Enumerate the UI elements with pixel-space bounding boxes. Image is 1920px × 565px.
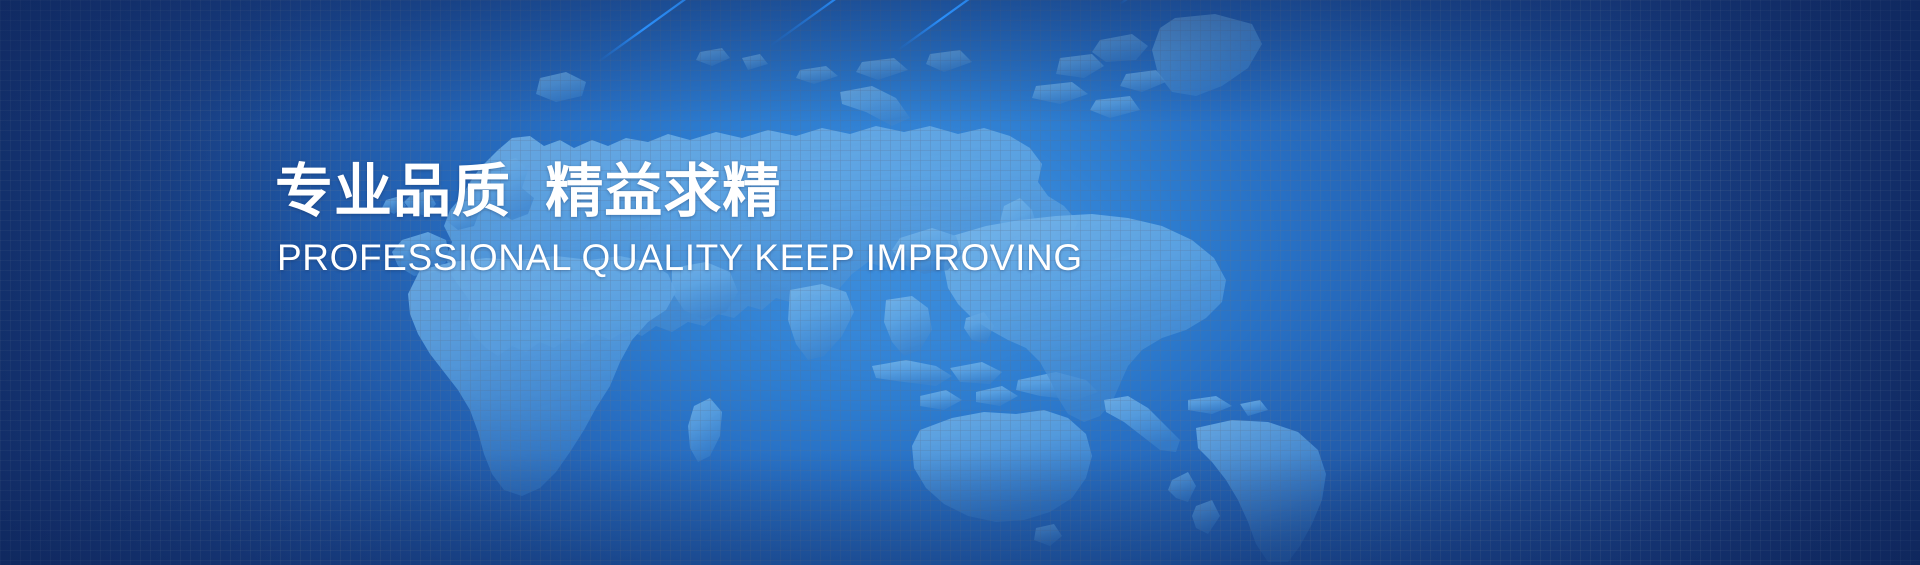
hero-banner: 专业品质 精益求精 PROFESSIONAL QUALITY KEEP IMPR…: [0, 0, 1920, 565]
diagonal-light-streaks: [0, 0, 1920, 565]
banner-headline-cn: 专业品质 精益求精: [275, 163, 1275, 221]
banner-subhead-en: PROFESSIONAL QUALITY KEEP IMPROVING: [277, 239, 1275, 276]
banner-copy: 专业品质 精益求精 PROFESSIONAL QUALITY KEEP IMPR…: [275, 163, 1275, 276]
